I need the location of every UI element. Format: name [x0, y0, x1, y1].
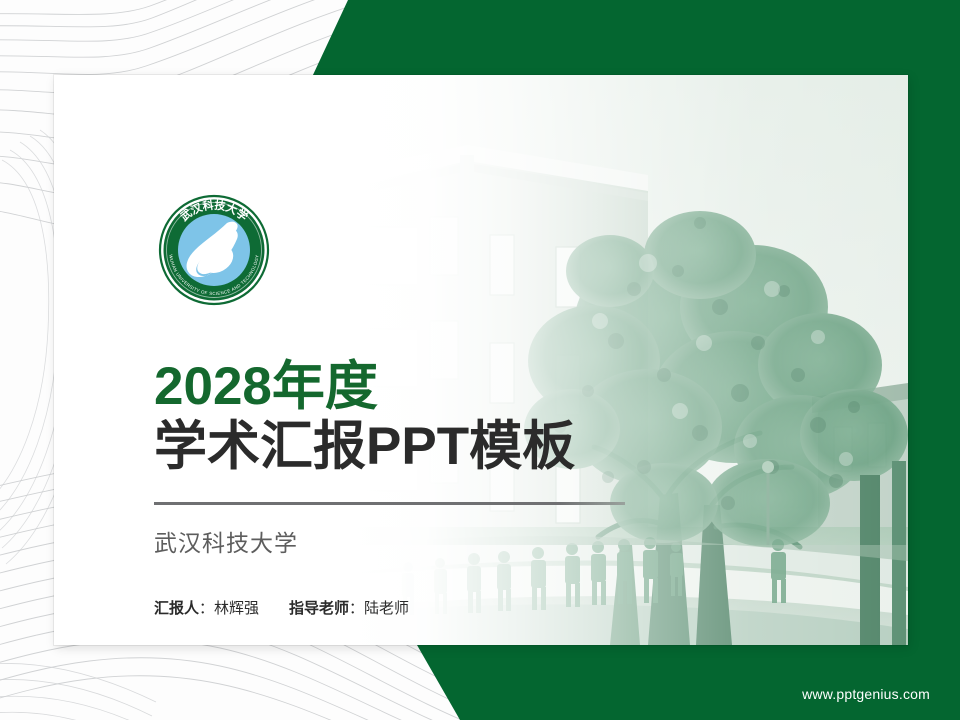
title-year: 2028年度 — [154, 360, 774, 413]
content-card: 武汉科技大学 WUHAN UNIVERSITY OF SCIENCE AND T… — [54, 75, 908, 645]
green-band-bottom — [0, 645, 960, 720]
page-title: 学术汇报PPT模板 — [154, 419, 774, 475]
wust-university-emblem: 武汉科技大学 WUHAN UNIVERSITY OF SCIENCE AND T… — [157, 193, 271, 307]
presentation-slide: 武汉科技大学 WUHAN UNIVERSITY OF SCIENCE AND T… — [0, 0, 960, 720]
advisor-label: 指导老师 — [289, 600, 349, 617]
presenter-label: 汇报人 — [154, 600, 199, 617]
site-watermark: www.pptgenius.com — [802, 686, 930, 702]
presenter-name: ：林辉强 — [199, 600, 259, 617]
title-block: 2028年度 学术汇报PPT模板 武汉科技大学 汇报人：林辉强指导老师：陆老师 — [154, 360, 774, 618]
university-subtitle: 武汉科技大学 — [154, 524, 774, 558]
advisor-name: ：陆老师 — [349, 600, 409, 617]
green-band-right — [900, 0, 960, 720]
title-divider — [154, 502, 625, 505]
byline: 汇报人：林辉强指导老师：陆老师 — [154, 597, 774, 618]
